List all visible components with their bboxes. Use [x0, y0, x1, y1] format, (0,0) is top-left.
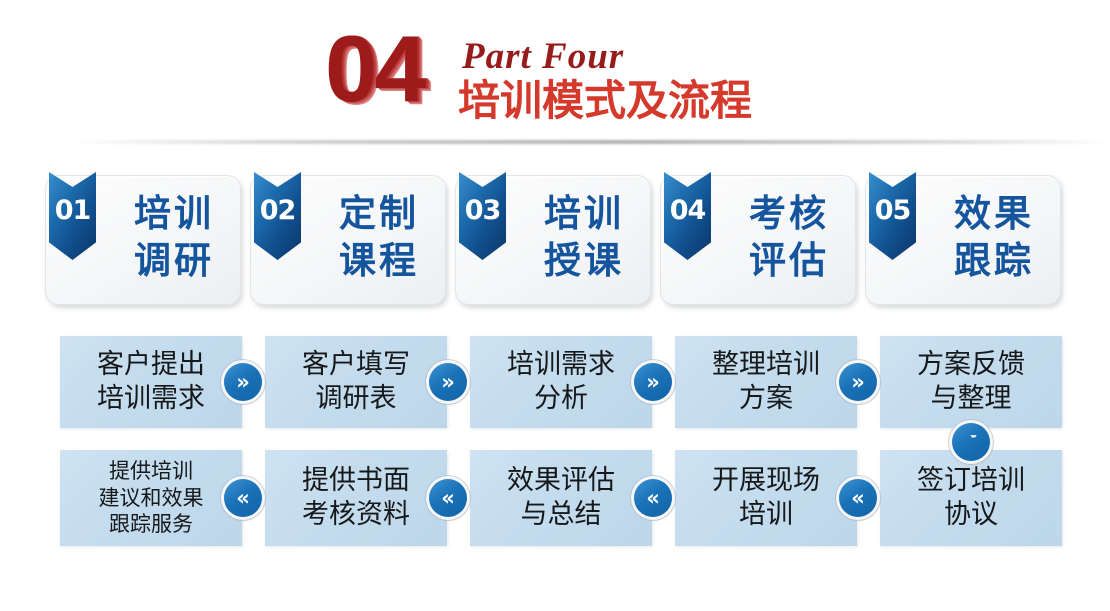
flow-step-top-2[interactable]: 客户填写 调研表 [265, 336, 447, 428]
flow-step-text: 客户提出 培训需求 [60, 348, 242, 416]
flow-step-bottom-3[interactable]: 效果评估 与总结 [470, 450, 652, 546]
flow-step-text: 提供书面 考核资料 [265, 464, 447, 532]
flow-step-text: 方案反馈 与整理 [880, 348, 1062, 416]
flow-step-bottom-1[interactable]: 提供培训 建议和效果 跟踪服务 [60, 450, 242, 546]
arrow-right-icon-1 [224, 363, 262, 401]
flow-step-text: 开展现场 培训 [675, 464, 857, 532]
ribbon-badge-icon: 03 [459, 172, 506, 260]
flow-step-text: 效果评估 与总结 [470, 464, 652, 532]
arrow-left-icon-4 [839, 479, 877, 517]
arrow-left-icon-3 [634, 479, 672, 517]
arrow-right-icon-2 [429, 363, 467, 401]
flow-step-text: 签订培训 协议 [880, 464, 1062, 532]
stage-label: 培训 调研 [112, 190, 236, 285]
arrow-right-icon-4 [839, 363, 877, 401]
stage-label: 效果 跟踪 [932, 190, 1056, 285]
stage-number: 04 [664, 197, 711, 224]
ribbon-badge-icon: 01 [49, 172, 96, 260]
flow-step-top-5[interactable]: 方案反馈 与整理 [880, 336, 1062, 428]
stage-card-01[interactable]: 01 培训 调研 [45, 175, 241, 305]
ribbon-badge-icon: 05 [869, 172, 916, 260]
process-diagram: 01 培训 调研 02 定制 课程 03 培训 授课 04 考核 评估 05 效… [0, 0, 1110, 611]
flow-step-text: 提供培训 建议和效果 跟踪服务 [60, 458, 242, 538]
stage-card-02[interactable]: 02 定制 课程 [250, 175, 446, 305]
stage-number: 05 [869, 197, 916, 224]
stage-number: 01 [49, 197, 96, 224]
arrow-left-icon-1 [224, 479, 262, 517]
flow-step-top-4[interactable]: 整理培训 方案 [675, 336, 857, 428]
ribbon-badge-icon: 02 [254, 172, 301, 260]
flow-step-text: 培训需求 分析 [470, 348, 652, 416]
stage-card-05[interactable]: 05 效果 跟踪 [865, 175, 1061, 305]
stage-card-04[interactable]: 04 考核 评估 [660, 175, 856, 305]
stage-number: 03 [459, 197, 506, 224]
stage-label: 考核 评估 [727, 190, 851, 285]
flow-step-bottom-2[interactable]: 提供书面 考核资料 [265, 450, 447, 546]
stage-card-03[interactable]: 03 培训 授课 [455, 175, 651, 305]
flow-step-top-1[interactable]: 客户提出 培训需求 [60, 336, 242, 428]
arrow-right-icon-3 [634, 363, 672, 401]
arrow-left-icon-2 [429, 479, 467, 517]
ribbon-badge-icon: 04 [664, 172, 711, 260]
arrow-down-icon [952, 423, 990, 461]
stage-label: 定制 课程 [317, 190, 441, 285]
flow-step-text: 客户填写 调研表 [265, 348, 447, 416]
flow-step-bottom-4[interactable]: 开展现场 培训 [675, 450, 857, 546]
stage-number: 02 [254, 197, 301, 224]
flow-step-text: 整理培训 方案 [675, 348, 857, 416]
flow-step-top-3[interactable]: 培训需求 分析 [470, 336, 652, 428]
flow-step-bottom-5[interactable]: 签订培训 协议 [880, 450, 1062, 546]
stage-label: 培训 授课 [522, 190, 646, 285]
